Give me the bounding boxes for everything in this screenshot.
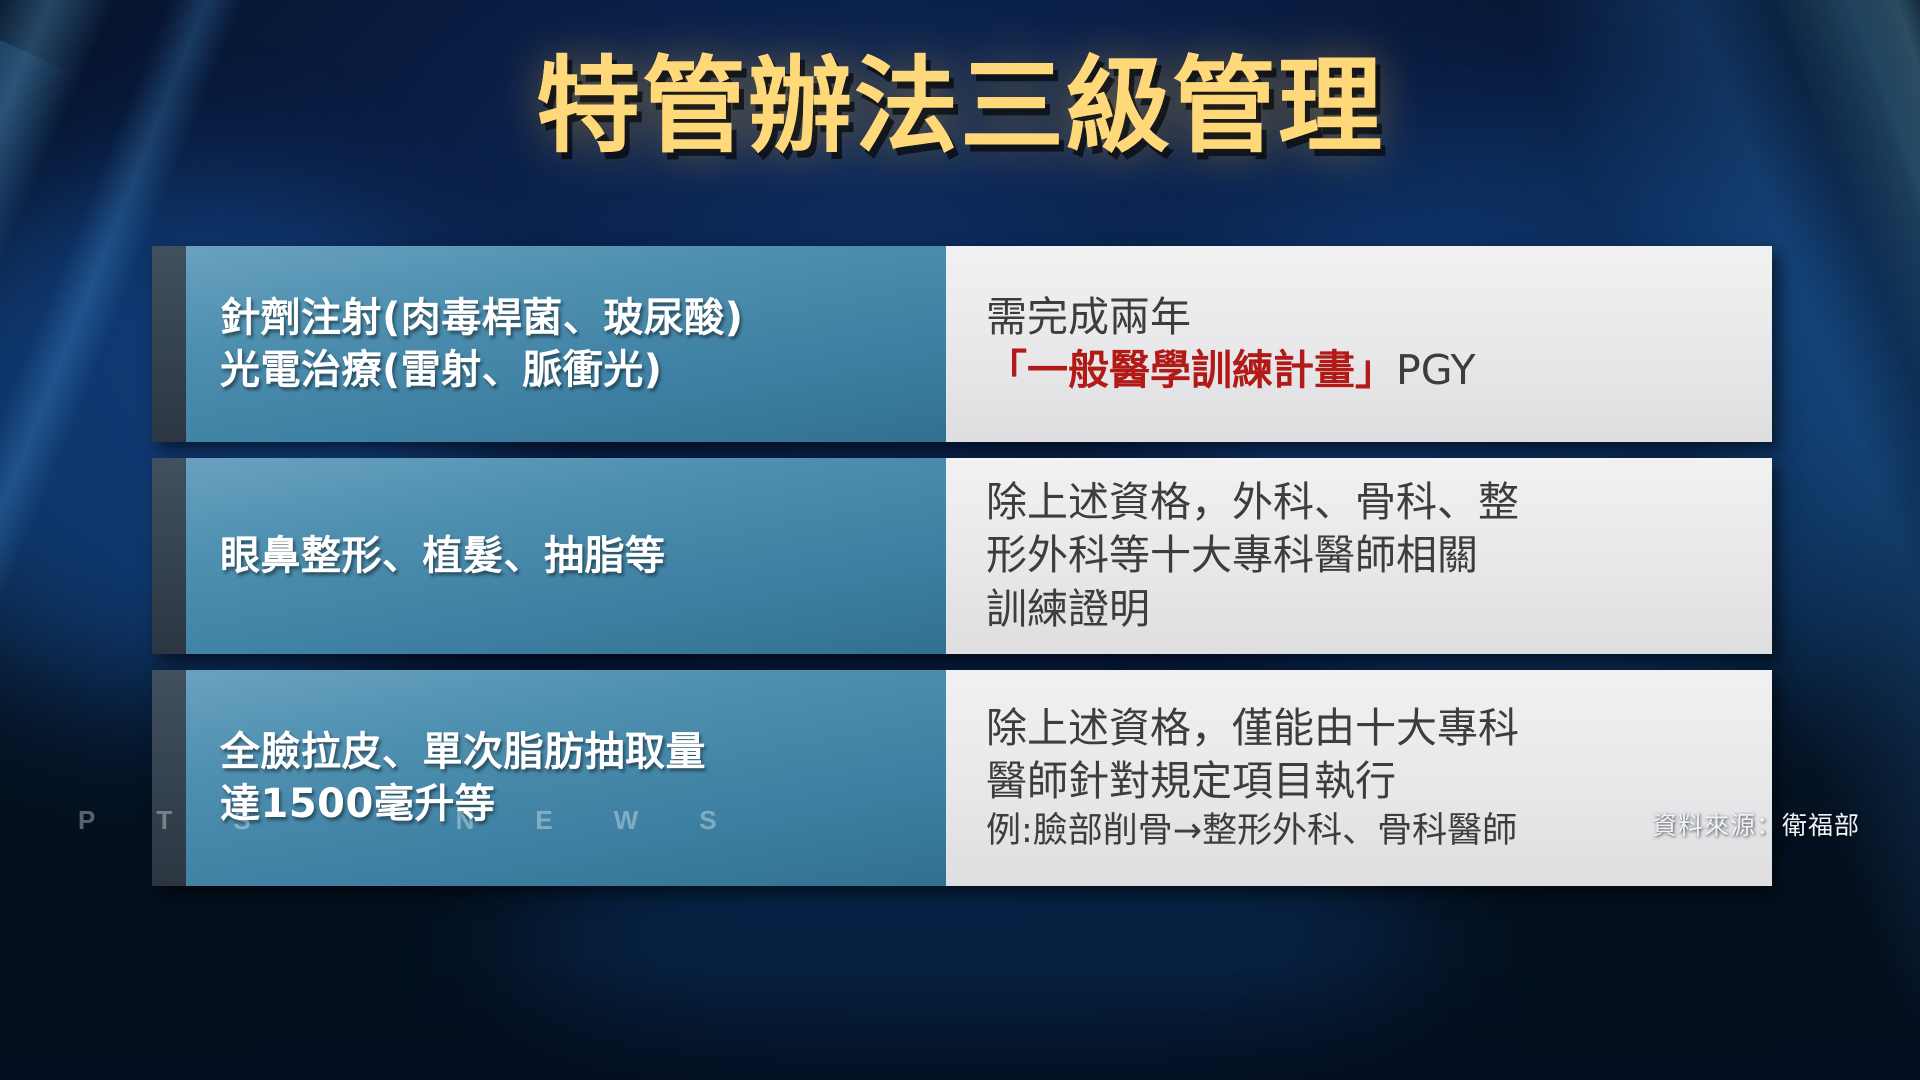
- row-requirement-cell: 除上述資格，外科、骨科、整 形外科等十大專科醫師相關 訓練證明: [946, 458, 1772, 654]
- table-row: 針劑注射(肉毒桿菌、玻尿酸) 光電治療(雷射、脈衝光) 需完成兩年 「一般醫學訓…: [152, 246, 1772, 442]
- row-category-text: 針劑注射(肉毒桿菌、玻尿酸) 光電治療(雷射、脈衝光): [220, 292, 744, 396]
- row-level-tab: [152, 670, 186, 886]
- watermark-letter: T: [156, 805, 175, 836]
- tier-table: 針劑注射(肉毒桿菌、玻尿酸) 光電治療(雷射、脈衝光) 需完成兩年 「一般醫學訓…: [152, 246, 1772, 886]
- row-category-cell: 全臉拉皮、單次脂肪抽取量 達1500毫升等: [186, 670, 946, 886]
- requirement-line: 形外科等十大專科醫師相關: [986, 529, 1519, 582]
- row-requirement-text: 需完成兩年 「一般醫學訓練計畫」PGY: [986, 291, 1476, 398]
- watermark-letter: N: [456, 805, 478, 836]
- requirement-line: 訓練證明: [986, 583, 1519, 636]
- requirement-line: 除上述資格，外科、骨科、整: [986, 476, 1519, 529]
- requirement-suffix: PGY: [1396, 346, 1476, 394]
- row-requirement-text: 除上述資格，僅能由十大專科 醫師針對規定項目執行 例:臉部削骨→整形外科、骨科醫…: [986, 702, 1519, 854]
- watermark-letter: E: [535, 805, 555, 836]
- watermark-letter: W: [614, 805, 642, 836]
- title-container: 特管辦法三級管理: [0, 48, 1920, 164]
- category-line: 全臉拉皮、單次脂肪抽取量: [220, 726, 706, 778]
- background-vignette: [0, 960, 1920, 1080]
- requirement-example-line: 例:臉部削骨→整形外科、骨科醫師: [986, 809, 1519, 855]
- requirement-line: 需完成兩年: [986, 291, 1476, 344]
- watermark-letter: S: [233, 805, 253, 836]
- row-level-tab: [152, 458, 186, 654]
- requirement-highlight: 「一般醫學訓練計畫」: [986, 346, 1396, 394]
- source-credit: 資料來源：衛福部: [1652, 806, 1860, 842]
- row-category-cell: 針劑注射(肉毒桿菌、玻尿酸) 光電治療(雷射、脈衝光): [186, 246, 946, 442]
- row-category-text: 眼鼻整形、植髮、抽脂等: [220, 530, 666, 582]
- table-row: 全臉拉皮、單次脂肪抽取量 達1500毫升等 除上述資格，僅能由十大專科 醫師針對…: [152, 670, 1772, 886]
- row-requirement-cell: 除上述資格，僅能由十大專科 醫師針對規定項目執行 例:臉部削骨→整形外科、骨科醫…: [946, 670, 1772, 886]
- category-line: 光電治療(雷射、脈衝光): [220, 344, 744, 396]
- page-title: 特管辦法三級管理: [536, 48, 1384, 164]
- row-category-cell: 眼鼻整形、植髮、抽脂等: [186, 458, 946, 654]
- requirement-line: 「一般醫學訓練計畫」PGY: [986, 344, 1476, 397]
- requirement-line: 醫師針對規定項目執行: [986, 755, 1519, 808]
- watermark-gap: [312, 805, 398, 836]
- watermark-letter: S: [699, 805, 719, 836]
- requirement-line: 除上述資格，僅能由十大專科: [986, 702, 1519, 755]
- row-requirement-text: 除上述資格，外科、骨科、整 形外科等十大專科醫師相關 訓練證明: [986, 476, 1519, 636]
- category-line: 眼鼻整形、植髮、抽脂等: [220, 530, 666, 582]
- channel-watermark: P T S N E W S: [78, 805, 720, 836]
- table-row: 眼鼻整形、植髮、抽脂等 除上述資格，外科、骨科、整 形外科等十大專科醫師相關 訓…: [152, 458, 1772, 654]
- watermark-letter: P: [78, 805, 98, 836]
- row-level-tab: [152, 246, 186, 442]
- category-line: 針劑注射(肉毒桿菌、玻尿酸): [220, 292, 744, 344]
- row-requirement-cell: 需完成兩年 「一般醫學訓練計畫」PGY: [946, 246, 1772, 442]
